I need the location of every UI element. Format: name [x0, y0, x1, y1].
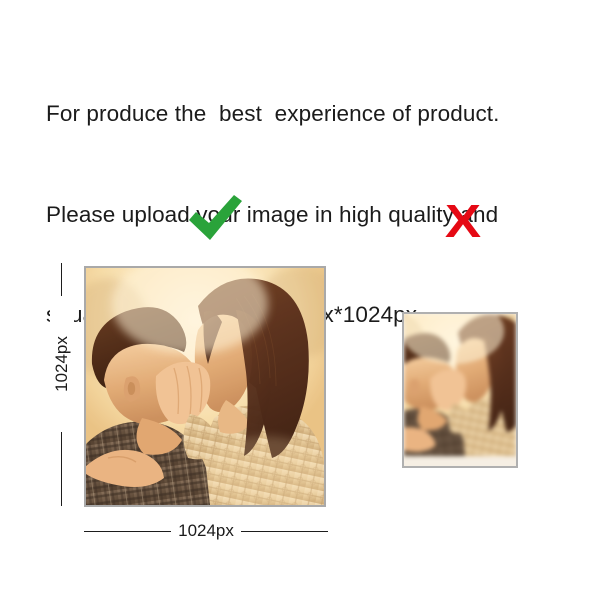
instruction-line-2: Please upload your image in high quality…: [46, 198, 576, 232]
green-check-icon: [186, 193, 244, 243]
width-dimension-rule-left: [84, 531, 171, 532]
image-upload-guidelines-page: For produce the best experience of produ…: [0, 0, 600, 600]
good-example-photo: [84, 266, 326, 507]
bad-example-photo: [402, 312, 518, 468]
width-dimension-label: 1024px: [178, 521, 234, 541]
instruction-line-1: For produce the best experience of produ…: [46, 97, 576, 131]
width-dimension: 1024px: [84, 519, 328, 543]
height-dimension-label: 1024px: [50, 296, 74, 432]
red-x-icon: X: [437, 198, 489, 244]
width-dimension-rule-right: [241, 531, 328, 532]
